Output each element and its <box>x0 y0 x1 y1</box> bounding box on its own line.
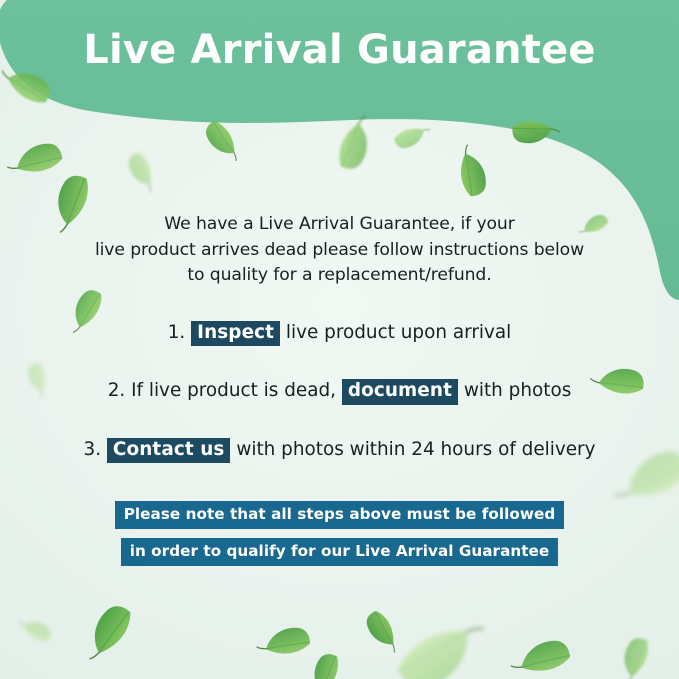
footnote-line-1: Please note that all steps above must be… <box>115 501 565 529</box>
page-title: Live Arrival Guarantee <box>0 28 679 72</box>
step-highlight-keyword: document <box>342 379 458 404</box>
step-number: 1. <box>168 322 191 343</box>
step-text-after: live product upon arrival <box>280 322 511 343</box>
step-item: 2. If live product is dead, document wit… <box>30 379 649 404</box>
step-highlight-keyword: Contact us <box>107 438 231 463</box>
step-highlight-keyword: Inspect <box>191 321 280 346</box>
step-text-after: with photos within 24 hours of delivery <box>230 439 595 460</box>
footnote-line-2: in order to qualify for our Live Arrival… <box>121 538 559 566</box>
intro-paragraph: We have a Live Arrival Guarantee, if you… <box>50 212 629 289</box>
step-item: 3. Contact us with photos within 24 hour… <box>30 438 649 463</box>
footnote-gap <box>0 529 679 538</box>
intro-line-1: We have a Live Arrival Guarantee, if you… <box>50 212 629 238</box>
poster-content: Live Arrival Guarantee We have a Live Ar… <box>0 0 679 679</box>
step-number: 3. <box>84 439 107 460</box>
footnote-row-2: in order to qualify for our Live Arrival… <box>0 538 679 566</box>
step-item: 1. Inspect live product upon arrival <box>30 321 649 346</box>
steps-list: 1. Inspect live product upon arrival2. I… <box>30 321 649 463</box>
step-number: 2. <box>108 380 131 401</box>
step-text-after: with photos <box>458 380 571 401</box>
footnote-block: Please note that all steps above must be… <box>0 501 679 566</box>
intro-line-3: to quality for a replacement/refund. <box>50 263 629 289</box>
footnote-row-1: Please note that all steps above must be… <box>0 501 679 529</box>
intro-line-2: live product arrives dead please follow … <box>50 238 629 264</box>
live-arrival-guarantee-poster: Live Arrival Guarantee We have a Live Ar… <box>0 0 679 679</box>
step-text-before: If live product is dead, <box>131 380 342 401</box>
